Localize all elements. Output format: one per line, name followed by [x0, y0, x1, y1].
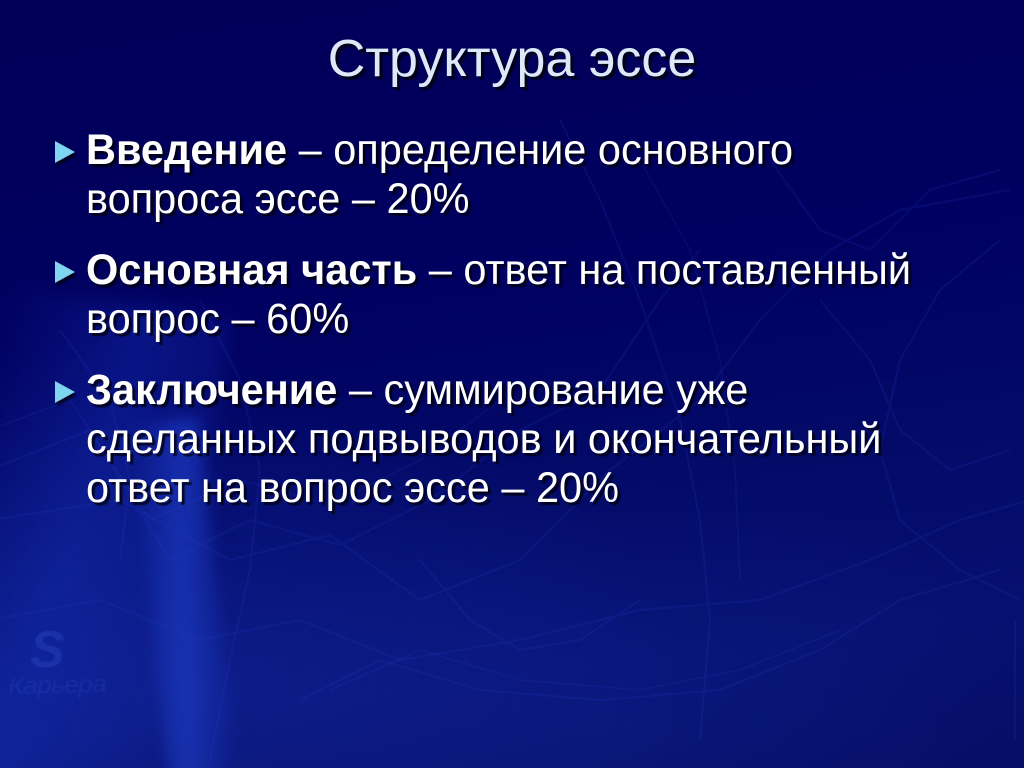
- presentation-slide: S Карьера Структура эссе Введение – опре…: [0, 0, 1024, 768]
- watermark-script-text: Карьера: [8, 670, 107, 700]
- list-item: Основная часть – ответ на поставленный в…: [52, 246, 982, 344]
- bullet-text: Введение – определение основного вопроса…: [86, 126, 951, 224]
- background-watermark: S Карьера: [8, 618, 238, 718]
- triangle-bullet-icon: [52, 246, 86, 285]
- list-item: Введение – определение основного вопроса…: [52, 126, 982, 224]
- slide-body-list: Введение – определение основного вопроса…: [52, 126, 982, 513]
- bullet-text: Заключение – суммирование уже сделанных …: [86, 366, 951, 513]
- triangle-bullet-icon: [52, 366, 86, 405]
- bullet-text: Основная часть – ответ на поставленный в…: [86, 246, 951, 344]
- bullet-term: Заключение: [86, 366, 337, 414]
- slide-title: Структура эссе: [0, 32, 1024, 87]
- list-item: Заключение – суммирование уже сделанных …: [52, 366, 982, 513]
- bullet-term: Введение: [86, 126, 287, 174]
- bullet-term: Основная часть: [86, 246, 417, 294]
- triangle-bullet-icon: [52, 126, 86, 165]
